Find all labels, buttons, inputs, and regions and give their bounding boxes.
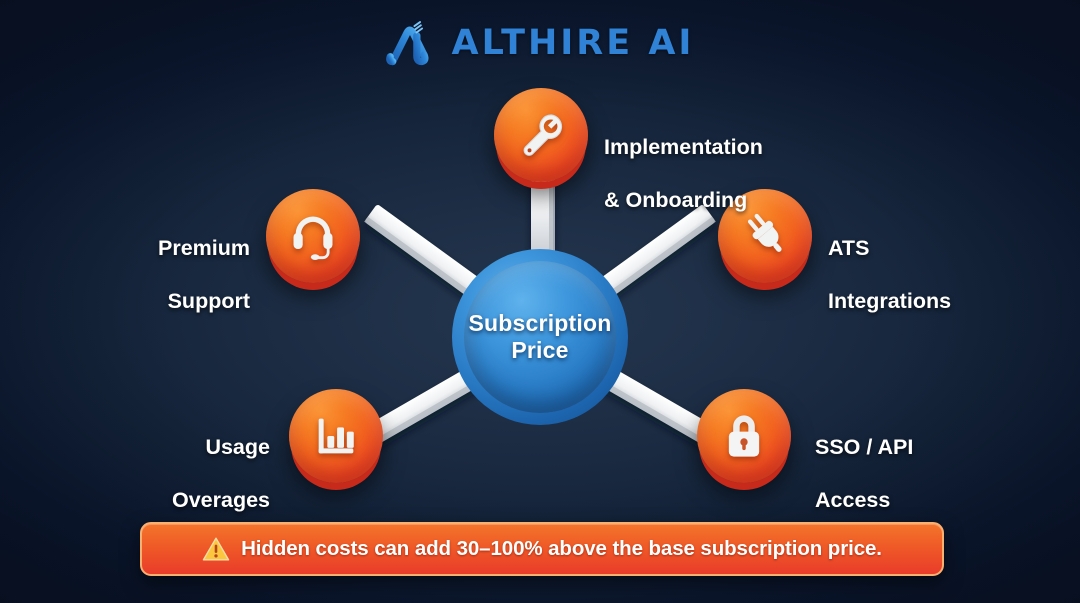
node-disc <box>266 189 360 283</box>
node-premium-support[interactable] <box>266 189 360 283</box>
label-line1: Implementation <box>604 134 864 160</box>
node-implementation-onboarding[interactable] <box>494 88 588 182</box>
warning-triangle-icon <box>202 536 230 562</box>
brand-header: ALTHIRE AI <box>0 10 1080 76</box>
althire-a-mark-icon <box>386 18 438 68</box>
hub-label-line1: Subscription <box>469 310 612 337</box>
infographic-canvas: ALTHIRE AI <box>0 0 1080 603</box>
label-line1: Usage <box>40 434 270 460</box>
headset-icon <box>287 210 339 262</box>
label-line2: Overages <box>40 487 270 513</box>
label-line2: Support <box>20 288 250 314</box>
hub-label-line2: Price <box>469 337 612 364</box>
label-premium-support: Premium Support <box>20 209 250 340</box>
hidden-costs-warning-banner[interactable]: Hidden costs can add 30–100% above the b… <box>140 522 944 576</box>
label-ats-integrations: ATS Integrations <box>828 209 1058 340</box>
node-sso-api-access[interactable] <box>697 389 791 483</box>
label-line1: Premium <box>20 235 250 261</box>
label-line1: SSO / API <box>815 434 1045 460</box>
label-line2: Access <box>815 487 1045 513</box>
label-usage-overages: Usage Overages <box>40 408 270 539</box>
hub-subscription-price[interactable]: Subscription Price <box>452 249 628 425</box>
label-line2: Integrations <box>828 288 1058 314</box>
label-implementation-onboarding: Implementation & Onboarding <box>604 108 864 239</box>
hub-label: Subscription Price <box>469 310 612 364</box>
label-line1: ATS <box>828 235 1058 261</box>
node-disc <box>494 88 588 182</box>
banner-text: Hidden costs can add 30–100% above the b… <box>241 537 882 561</box>
label-sso-api-access: SSO / API Access <box>815 408 1045 539</box>
wrench-icon <box>515 109 567 161</box>
label-line2: & Onboarding <box>604 187 864 213</box>
hub-inner-disc: Subscription Price <box>464 261 616 413</box>
bar-chart-icon <box>310 410 362 462</box>
node-usage-overages[interactable] <box>289 389 383 483</box>
node-disc <box>697 389 791 483</box>
lock-icon <box>718 410 770 462</box>
node-disc <box>289 389 383 483</box>
brand-name: ALTHIRE AI <box>452 23 695 63</box>
